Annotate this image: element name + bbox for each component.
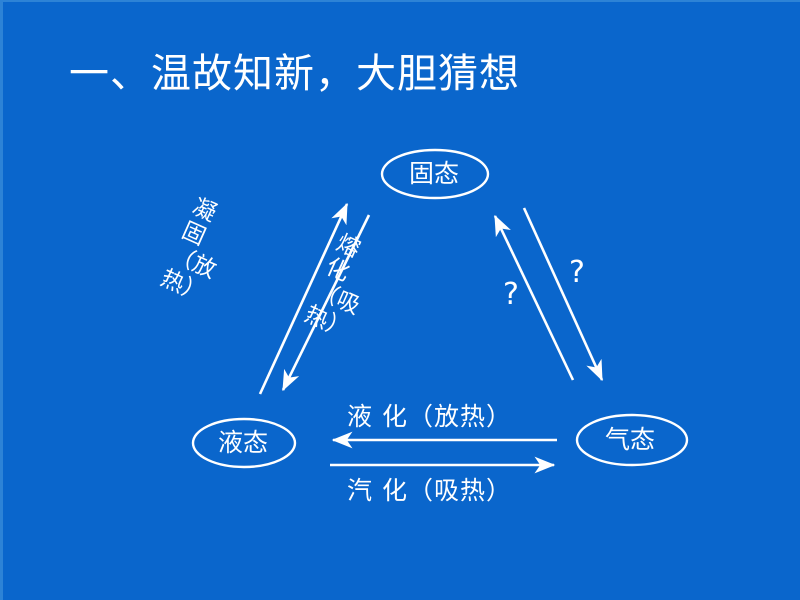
state-change-diagram [3, 2, 800, 600]
edge-liquefy-label: 液 化（放热） [347, 397, 512, 433]
node-liquid-label: 液态 [218, 430, 268, 455]
node-gas-label: 气态 [605, 427, 655, 452]
edge-unknown-to-gas-label: ? [569, 258, 585, 288]
slide-canvas: 一、温故知新，大胆猜想 固态 液态 气态 凝固（放热） 熔化（吸热） ? ? 液… [0, 0, 800, 600]
edge-vaporize-label: 汽 化（吸热） [347, 471, 512, 507]
node-solid-label: 固态 [409, 161, 459, 186]
edge-unknown-to-gas-arrow [524, 208, 602, 380]
edge-unknown-to-solid-label: ? [503, 280, 519, 310]
